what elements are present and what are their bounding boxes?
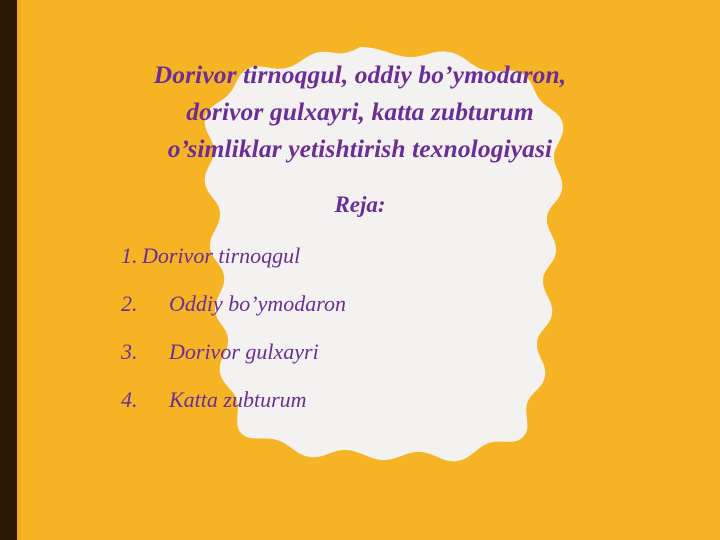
list-item-number: 3.: [121, 339, 169, 365]
slide-title: Dorivor tirnoqgul, oddiy bo’ymodaron, do…: [96, 56, 624, 167]
list-item-number: 2.: [121, 291, 169, 317]
list-item: 1. Dorivor tirnoqgul: [121, 243, 641, 291]
edge-seam-line: [17, 0, 21, 540]
list-item-label: Dorivor gulxayri: [169, 339, 319, 365]
plan-heading: Reja:: [96, 191, 624, 219]
title-line-2: dorivor gulxayri, katta zubturum: [96, 93, 624, 130]
list-item: 2. Oddiy bo’ymodaron: [121, 291, 641, 339]
list-item-number: 4.: [121, 387, 169, 413]
list-item-number: 1.: [121, 243, 142, 269]
list-item: 4. Katta zubturum: [121, 387, 641, 435]
list-item-label: Dorivor tirnoqgul: [142, 243, 300, 269]
list-item-label: Oddiy bo’ymodaron: [169, 291, 346, 317]
title-line-1: Dorivor tirnoqgul, oddiy bo’ymodaron,: [96, 56, 624, 93]
presentation-slide: Dorivor tirnoqgul, oddiy bo’ymodaron, do…: [0, 0, 720, 540]
slide-content: Dorivor tirnoqgul, oddiy bo’ymodaron, do…: [0, 0, 720, 540]
list-item-label: Katta zubturum: [169, 387, 307, 413]
plan-list: 1. Dorivor tirnoqgul 2. Oddiy bo’ymodaro…: [121, 243, 641, 435]
title-line-3: o’simliklar yetishtirish texnologiyasi: [96, 130, 624, 167]
list-item: 3. Dorivor gulxayri: [121, 339, 641, 387]
left-edge-bar: [0, 0, 17, 540]
